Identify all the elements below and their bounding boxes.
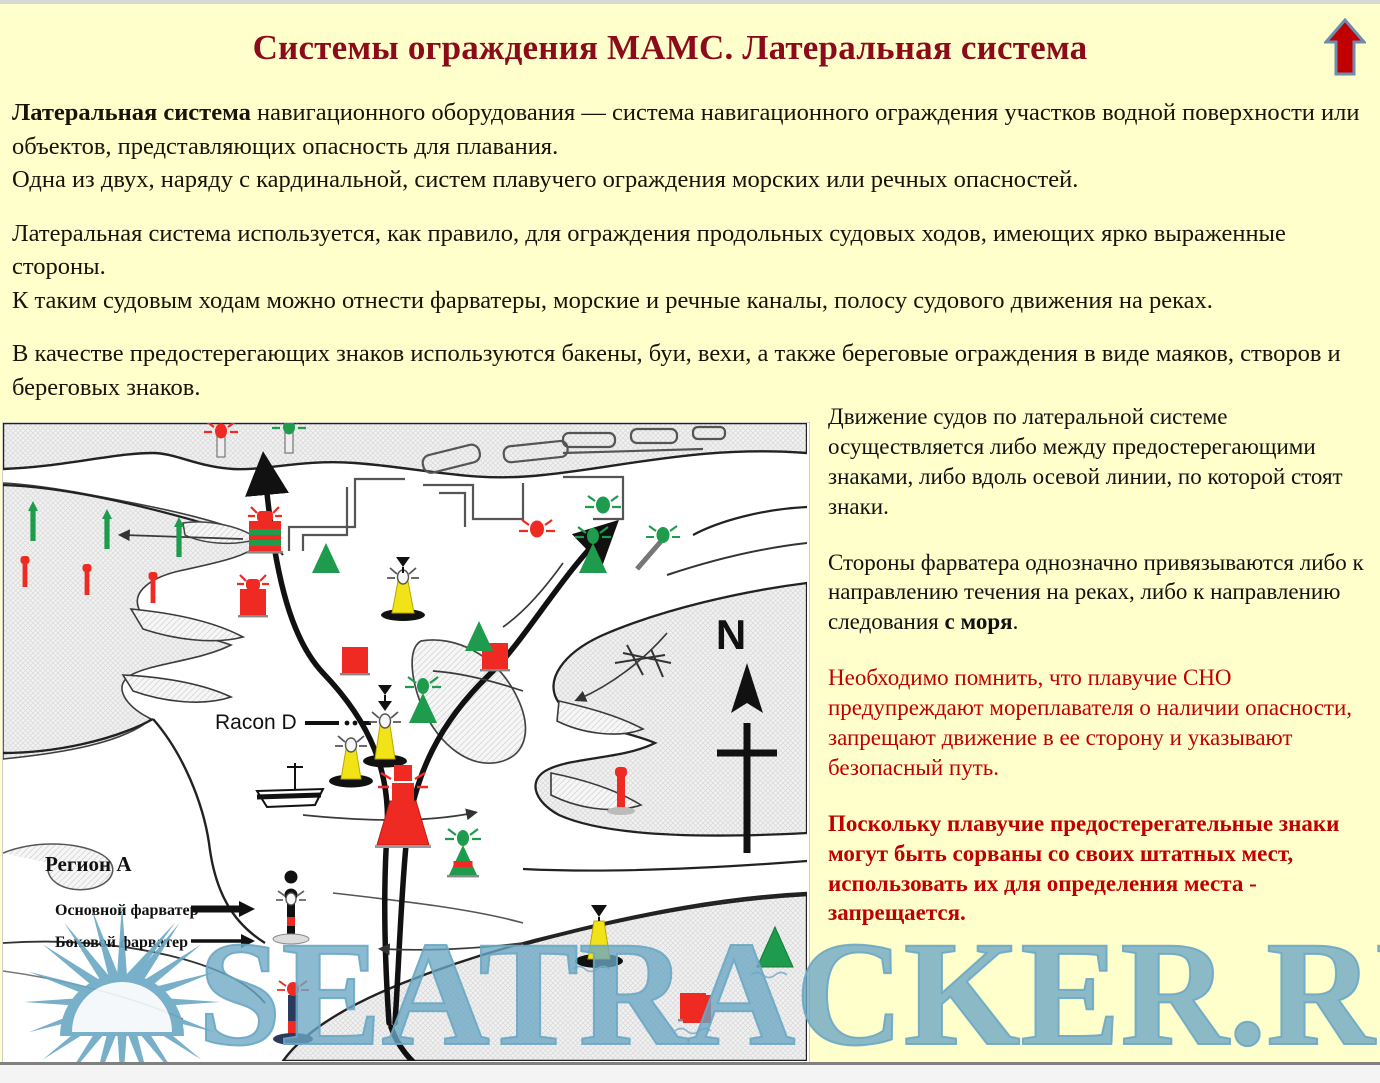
buoy-red-can	[340, 647, 370, 675]
right-text-column: Движение судов по латеральной системе ос…	[828, 402, 1374, 928]
slide-page: Системы ограждения МАМС. Латеральная сис…	[0, 4, 1380, 1062]
racon-label: Racon D	[215, 711, 297, 734]
right-paragraph-2: Стороны фарватера однозначно привязывают…	[828, 548, 1374, 638]
right-paragraph-2-lead: Стороны фарватера однозначно привязывают…	[828, 550, 1364, 635]
paragraph-1-bold-lead: Латеральная система	[12, 99, 251, 126]
legend-region-label: Регион А	[45, 852, 132, 876]
right-paragraph-2-tail: .	[1013, 609, 1019, 634]
right-paragraph-1: Движение судов по латеральной системе ос…	[828, 402, 1374, 522]
right-paragraph-4-prohibition: Поскольку плавучие предостерегательные з…	[828, 809, 1374, 929]
lateral-system-chart-image: Racon D	[2, 422, 810, 1062]
north-label: N	[716, 611, 746, 658]
right-paragraph-2-bold: с моря	[945, 609, 1013, 634]
paragraph-4: К таким судовым ходам можно отнести фарв…	[12, 284, 1368, 318]
paragraph-3: Латеральная система используется, как пр…	[12, 217, 1368, 284]
legend-side-fairway-label: Боковой фарватер	[55, 934, 188, 951]
paragraph-5: В качестве предостерегающих знаков испол…	[12, 337, 1368, 404]
legend-main-fairway-label: Основной фарватер	[55, 902, 199, 919]
paragraph-2: Одна из двух, наряду с кардинальной, сис…	[12, 163, 1368, 197]
page-title: Системы ограждения МАМС. Латеральная сис…	[0, 28, 1340, 68]
body-text-block: Латеральная система навигационного обору…	[12, 96, 1368, 405]
paragraph-1: Латеральная система навигационного обору…	[12, 96, 1368, 163]
right-paragraph-3-warning: Необходимо помнить, что плавучие СНО пре…	[828, 663, 1374, 783]
